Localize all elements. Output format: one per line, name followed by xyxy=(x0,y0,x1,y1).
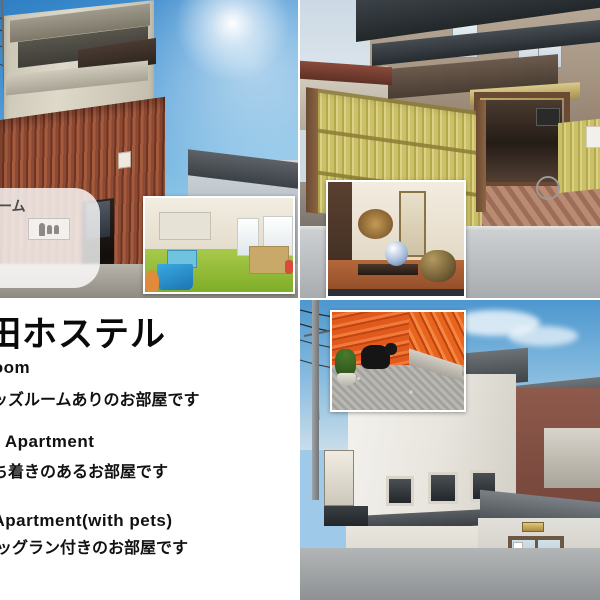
toy-shelf xyxy=(249,246,289,274)
background-house xyxy=(544,428,600,488)
utility-pole xyxy=(312,300,319,500)
badge-family-jp-label: ファミリールーム xyxy=(0,196,26,216)
room-type-3-en: ト可）Apartment(with pets) xyxy=(0,506,173,531)
bronze-pot xyxy=(420,250,455,282)
photo-bottom-band xyxy=(328,289,464,296)
round-window xyxy=(358,209,393,239)
street-pavement xyxy=(300,548,600,600)
person-glyph xyxy=(47,225,52,234)
bicycle-wheel-icon xyxy=(536,176,560,200)
panel-family-room-exterior: ファミリールーム room BER : A1 xyxy=(0,0,298,298)
entry-small-window xyxy=(536,108,560,126)
vertical-signboard xyxy=(324,450,354,506)
inset-photo-kids-room xyxy=(143,196,295,294)
people-icon xyxy=(28,218,70,240)
inset-photo-dog-run xyxy=(330,310,466,412)
fence-post-left xyxy=(306,87,318,214)
fence-notice-sign xyxy=(586,126,600,148)
blue-slide xyxy=(157,264,193,290)
utility-meter-box xyxy=(118,151,131,169)
person-glyph xyxy=(39,223,45,236)
panel-pets-apartment-exterior: 別館(ペット可) Apartment （with pets） ROOM NUMB… xyxy=(300,300,600,600)
toy-box xyxy=(285,260,293,274)
room-type-2-jp: の落ち着きのあるお部屋です xyxy=(0,458,168,482)
panel-text-descriptions: 田ホステル ily room けキッズルームありのお部屋です erior Apa… xyxy=(0,300,298,600)
entry-lamp-icon xyxy=(522,522,544,532)
room-type-1-jp: けキッズルームありのお部屋です xyxy=(0,386,200,410)
storehouse-window-2 xyxy=(428,472,458,504)
room-type-3-jp: しいドッグラン付きのお部屋です xyxy=(0,534,188,558)
low-display-table xyxy=(358,264,418,275)
room-type-2-en: erior Apartment xyxy=(0,432,94,452)
storehouse-window-1 xyxy=(386,476,414,506)
badge-family-room: ファミリールーム room BER : A1 xyxy=(0,188,100,288)
inset-photo-tatami-room xyxy=(326,180,466,298)
panel-superior-apartment-exterior: S Ap ROOM xyxy=(300,0,600,298)
room-type-1-en: ily room xyxy=(0,358,30,378)
wall-panel xyxy=(159,212,211,240)
cloud xyxy=(508,326,578,346)
dog-head xyxy=(385,343,397,355)
toy-figure xyxy=(145,270,159,292)
entry-frame xyxy=(474,92,570,188)
photo-collage: ファミリールーム room BER : A1 xyxy=(0,0,600,600)
hostel-title: 田ホステル xyxy=(0,306,166,357)
dark-signboard xyxy=(324,506,368,526)
fence-post-right xyxy=(476,100,486,212)
person-glyph xyxy=(54,225,59,234)
